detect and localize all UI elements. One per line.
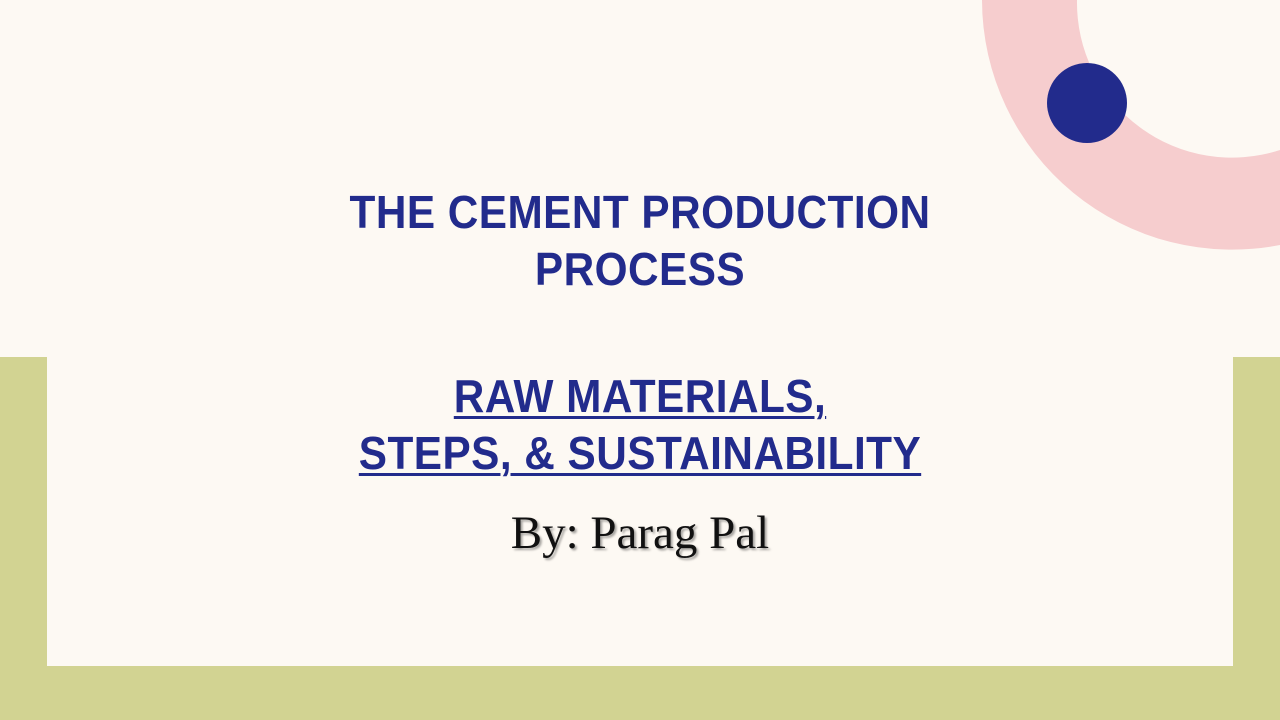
subtitle-line-2: STEPS, & SUSTAINABILITY — [359, 427, 921, 479]
subtitle-line-1: RAW MATERIALS, — [454, 370, 826, 422]
author-byline: By: Parag Pal — [190, 505, 1090, 561]
title-line-2: PROCESS — [535, 243, 745, 295]
page-subtitle: RAW MATERIALS,STEPS, & SUSTAINABILITY — [226, 368, 1054, 482]
title-line-1: THE CEMENT PRODUCTION — [350, 186, 931, 238]
page-title: THE CEMENT PRODUCTIONPROCESS — [226, 184, 1054, 298]
slide-text-block: THE CEMENT PRODUCTIONPROCESS RAW MATERIA… — [0, 0, 1280, 720]
presentation-slide: THE CEMENT PRODUCTIONPROCESS RAW MATERIA… — [0, 0, 1280, 720]
